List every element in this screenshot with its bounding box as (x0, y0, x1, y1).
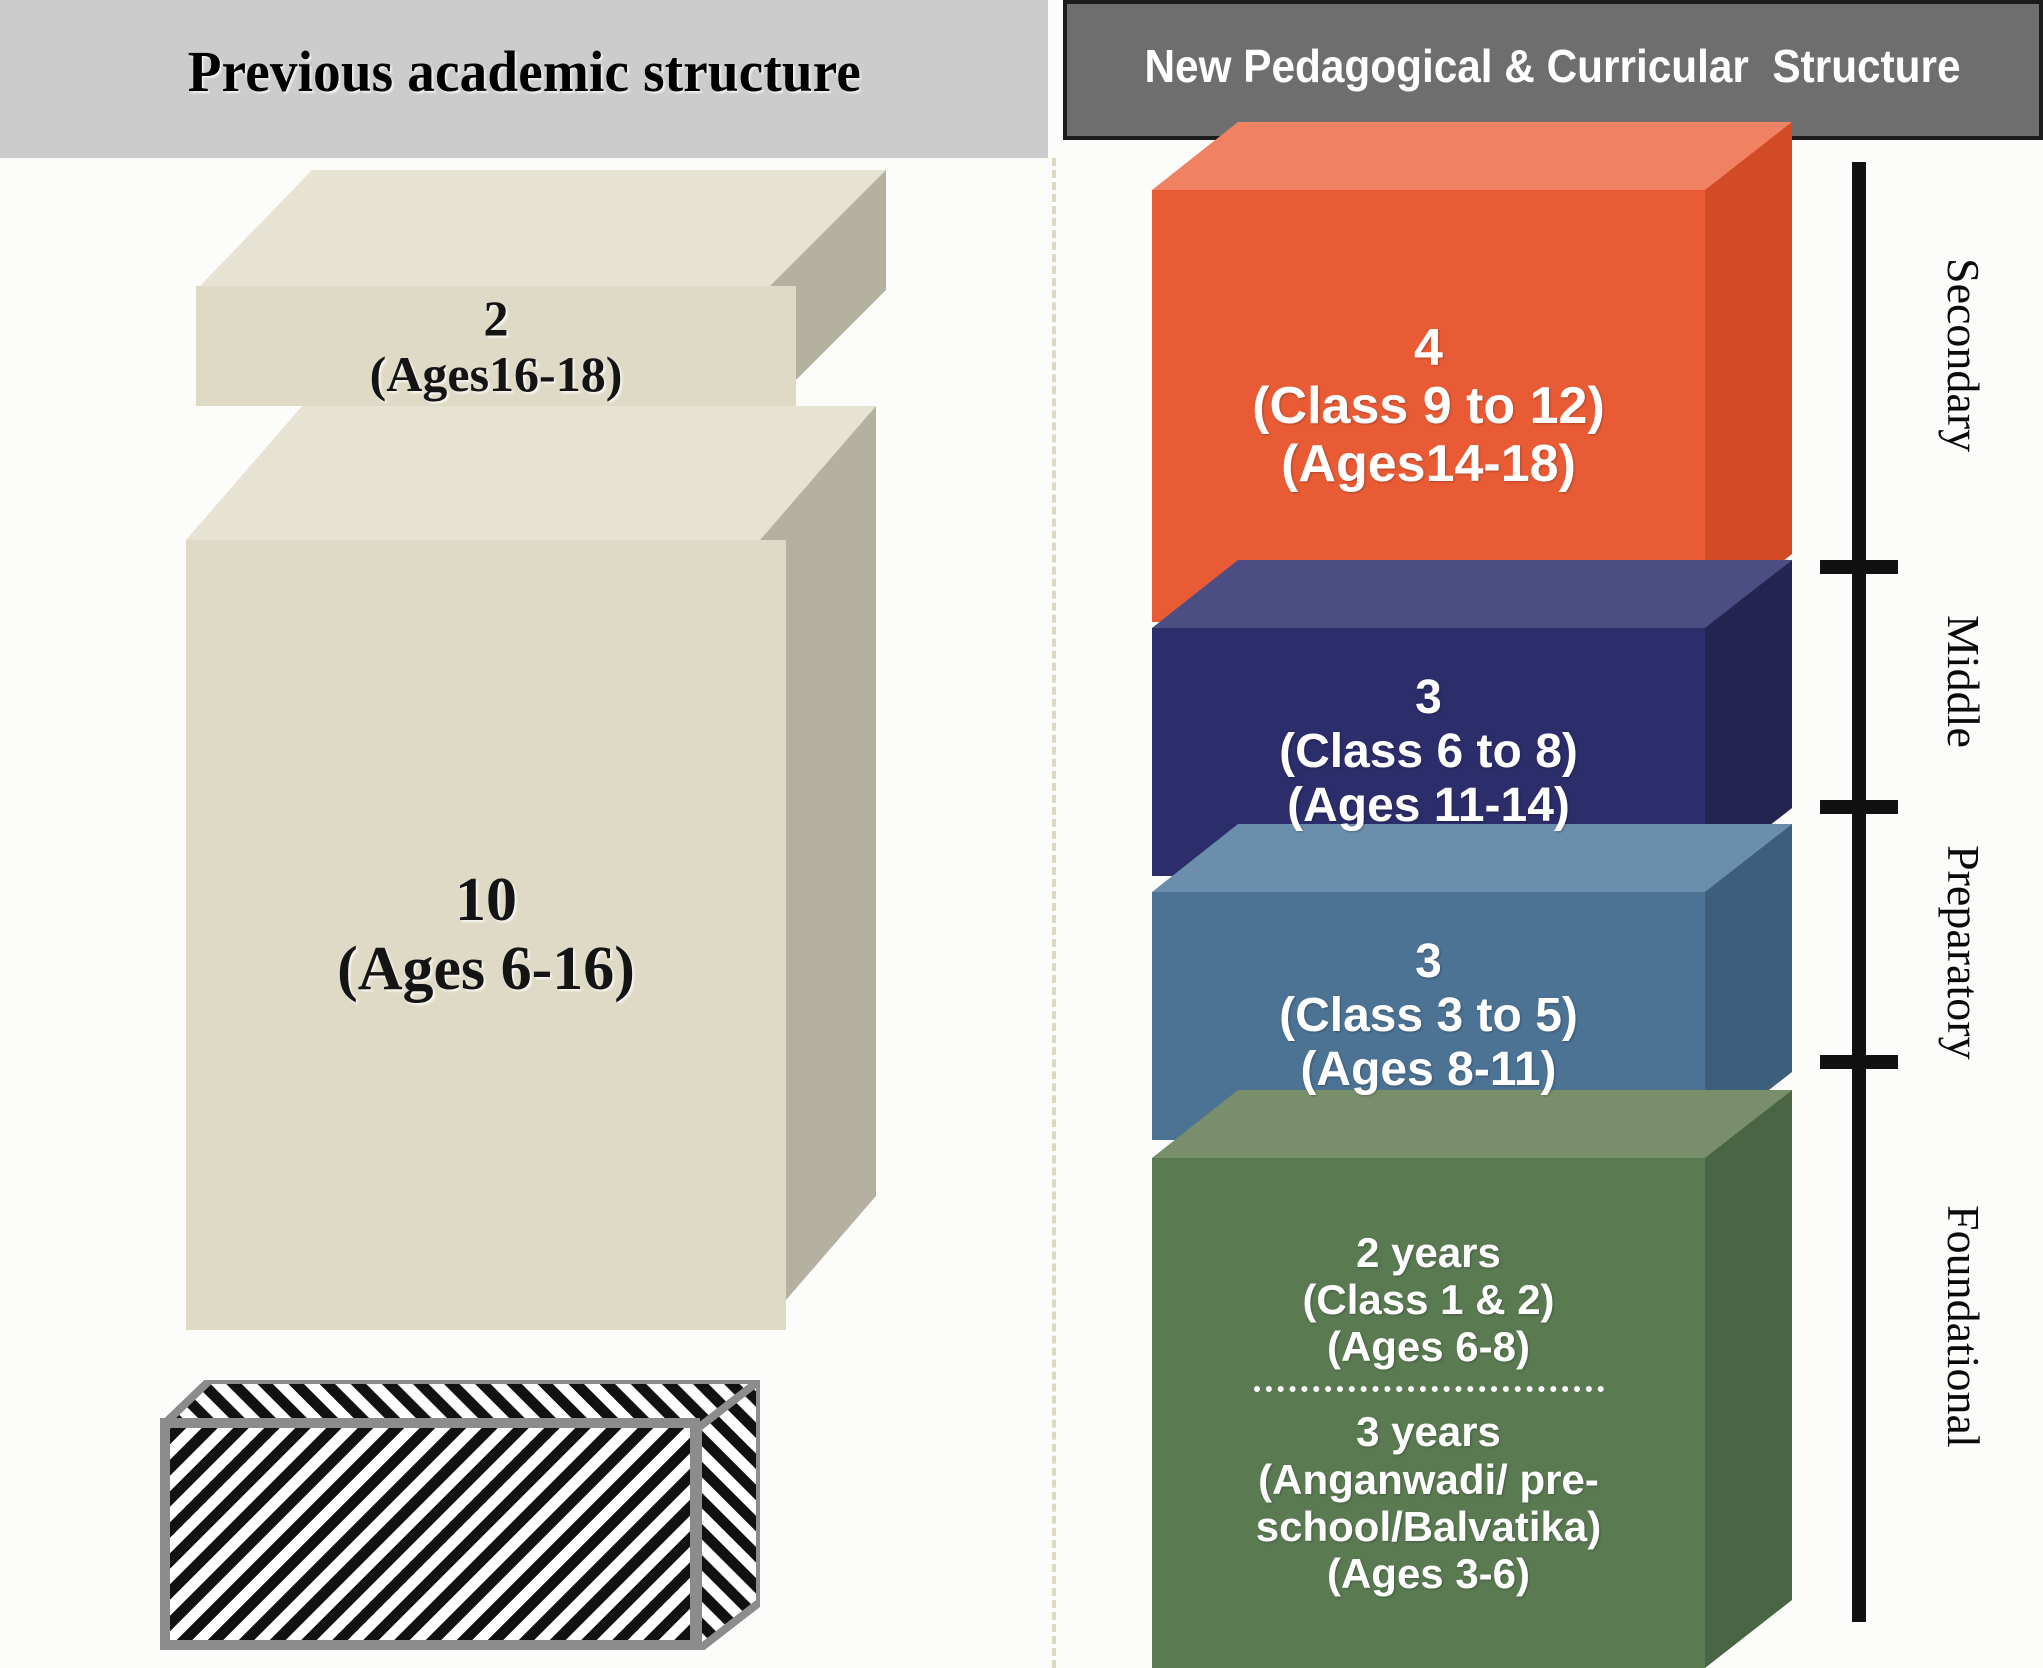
previous-box-schooling: 10 (Ages 6-16) (186, 540, 786, 1330)
hatch-box-front-face (160, 1418, 700, 1650)
new-box-foundational-face: 2 years (Class 1 & 2) (Ages 6-8) 3 years… (1152, 1158, 1705, 1668)
previous-box-schooling-text: 10 (Ages 6-16) (337, 866, 635, 1005)
previous-box-senior-secondary-text: 2 (Ages16-18) (370, 290, 623, 402)
header-new-structure: New Pedagogical & Curricular Structure (1063, 0, 2043, 140)
stage-label-middle: Middle (1937, 615, 1990, 748)
new-box-secondary-text: 4 (Class 9 to 12) (Ages14-18) (1252, 319, 1605, 494)
foundational-box-side-face (1705, 1090, 1792, 1668)
foundational-box-top-face (1152, 1090, 1792, 1158)
new-box-foundational: 2 years (Class 1 & 2) (Ages 6-8) 3 years… (1152, 1158, 1705, 1668)
new-box-foundational-text-lower: 3 years (Anganwadi/ pre- school/Balvatik… (1256, 1408, 1601, 1596)
preparatory-box-top-face (1152, 824, 1792, 892)
header-new-structure-label: New Pedagogical & Curricular Structure (1145, 39, 1961, 93)
stage-axis-line (1852, 162, 1866, 1622)
header-previous-structure: Previous academic structure (0, 0, 1048, 158)
previous-box-preschool-uncovered (160, 1380, 760, 1650)
secondary-box-top-face (1152, 122, 1792, 190)
new-box-secondary-face: 4 (Class 9 to 12) (Ages14-18) (1152, 190, 1705, 622)
new-box-preparatory-text: 3 (Class 3 to 5) (Ages 8-11) (1279, 935, 1578, 1096)
previous-box-senior-secondary-face: 2 (Ages16-18) (196, 286, 796, 406)
foundational-dotted-separator (1254, 1386, 1604, 1392)
new-box-foundational-text-upper: 2 years (Class 1 & 2) (Ages 6-8) (1302, 1229, 1554, 1370)
stage-label-secondary: Secondary (1937, 258, 1990, 452)
middle-box-top-face (1152, 560, 1792, 628)
hatch-box-side-face (698, 1380, 760, 1650)
stage-label-preparatory: Preparatory (1937, 845, 1990, 1060)
diagram-canvas: Previous academic structure New Pedagogi… (0, 0, 2043, 1668)
stage-label-foundational: Foundational (1937, 1205, 1990, 1448)
new-box-secondary: 4 (Class 9 to 12) (Ages14-18) (1152, 190, 1705, 622)
header-previous-structure-label: Previous academic structure (187, 38, 860, 105)
stage-axis-tick-middle-preparatory (1820, 800, 1898, 814)
stage-axis-tick-secondary-middle (1820, 560, 1898, 574)
previous-box-schooling-face: 10 (Ages 6-16) (186, 540, 786, 1330)
previous-box-senior-secondary: 2 (Ages16-18) (196, 286, 796, 406)
panel-divider (1052, 158, 1056, 1668)
stage-axis-tick-preparatory-foundational (1820, 1055, 1898, 1069)
secondary-box-side-face (1705, 122, 1792, 622)
new-box-middle-text: 3 (Class 6 to 8) (Ages 11-14) (1279, 671, 1578, 832)
